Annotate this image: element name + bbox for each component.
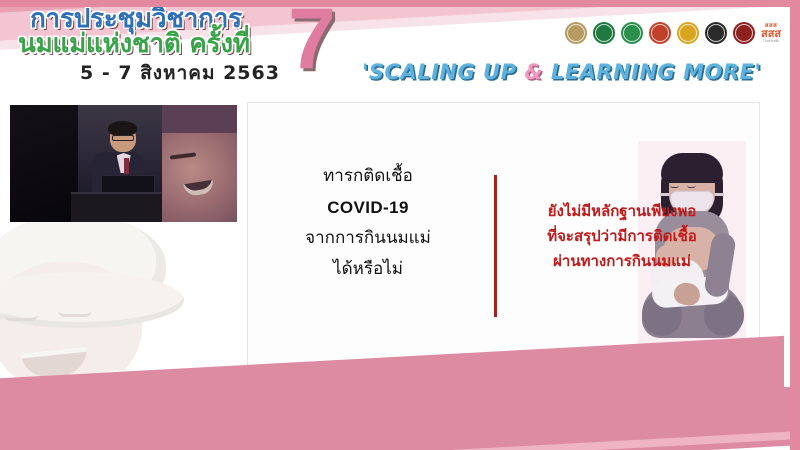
org-logo-ministry-of-public-health [593,22,615,44]
org-logo-mahidol-university [677,22,699,44]
org-logo-royal-college [649,22,671,44]
question-line-2: COVID-19 [268,192,468,223]
conference-edition-number: 7 [288,0,336,82]
conference-tagline: 'SCALING UP & LEARNING MORE' [362,60,761,84]
mask-strap-right [715,193,724,196]
question-line-3: จากการกินนมแม่ [268,223,468,254]
mask-strap-left [660,193,669,196]
question-line-4: ได้หรือไม่ [268,254,468,285]
speaker-podium [71,192,162,222]
tagline-ampersand: & [524,60,543,84]
org-logo-thaihealth: สสส สสส ThaiHealth [761,23,781,43]
question-line-1: ทารกติดเชื้อ [268,161,468,192]
video-baby-hair [162,105,237,133]
org-logo-nursing-council [705,22,727,44]
question-text: ทารกติดเชื้อ COVID-19 จากการกินนมแม่ ได้… [268,161,468,285]
vertical-divider [494,175,497,317]
speaker-hair [108,121,137,136]
org-logo-department-of-health [621,22,643,44]
mother-hair-front [661,153,723,183]
thaihealth-caption: ThaiHealth [763,40,779,43]
live-speaker-video[interactable] [10,105,237,222]
speaker-glasses-icon [112,135,134,141]
tagline-prefix: 'SCALING UP [362,60,524,84]
speaker-tie [124,158,129,174]
event-logo: การประชุมวิชาการ นมแม่แห่งชาติ ครั้งที่ … [14,2,304,94]
video-baby-overlay [162,105,237,222]
frame-top-border [0,0,800,7]
org-logo-breastfeeding-foundation [565,22,587,44]
tagline-suffix: LEARNING MORE' [543,60,761,84]
organizer-logo-row: สสส สสส ThaiHealth [565,22,781,44]
answer-line-2: ที่จะสรุปว่ามีการติดเชื้อ [506,224,738,249]
frame-right-border [790,0,800,450]
conference-title-line2: นมแม่แห่งชาติ ครั้งที่ [18,29,250,59]
answer-line-3: ผ่านทางการกินนมแม่ [506,249,738,274]
answer-text: ยังไม่มีหลักฐานเพียงพอ ที่จะสรุปว่ามีการ… [506,199,738,274]
conference-header: การประชุมวิชาการ นมแม่แห่งชาติ ครั้งที่ … [0,0,800,100]
frame-right-inner-gap [784,7,790,387]
presentation-screen: การประชุมวิชาการ นมแม่แห่งชาติ ครั้งที่ … [0,0,800,450]
conference-date: 5 - 7 สิงหาคม 2563 [80,62,280,84]
org-logo-medical-council [733,22,755,44]
answer-line-1: ยังไม่มีหลักฐานเพียงพอ [506,199,738,224]
